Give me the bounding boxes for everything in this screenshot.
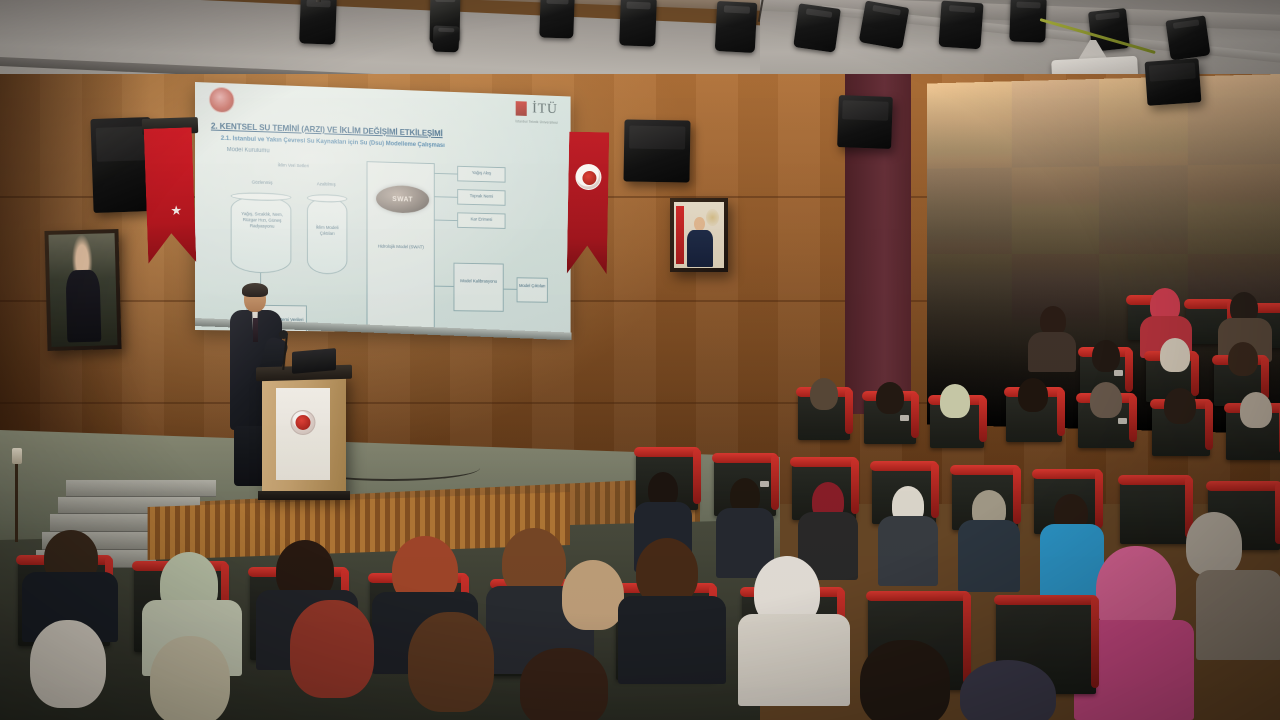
university-emblem-icon bbox=[575, 164, 601, 190]
audience-torso bbox=[618, 596, 726, 684]
audience-head bbox=[1018, 378, 1048, 412]
audience-head bbox=[408, 612, 494, 712]
podium-front-panel bbox=[276, 388, 330, 480]
crescent-icon bbox=[157, 180, 180, 203]
portrait-inner bbox=[49, 233, 118, 347]
diagram-cylinder-left-text: Yağış, Sıcaklık, Nem, Rüzgar Hızı, Güneş… bbox=[235, 211, 290, 231]
wall-speaker-icon bbox=[623, 119, 690, 182]
auditorium-seat bbox=[1120, 480, 1190, 544]
diagram-calibration-label: Model Kalibrasyonu bbox=[455, 278, 501, 285]
ataturk-portrait-image bbox=[49, 233, 118, 347]
audience-head bbox=[810, 378, 838, 410]
ataturk-portrait-frame bbox=[44, 229, 121, 351]
audience-head bbox=[520, 648, 608, 720]
audience-headscarf bbox=[1090, 382, 1122, 418]
portrait-inner bbox=[674, 202, 724, 268]
audience-headscarf bbox=[1160, 338, 1190, 372]
diagram-section-label: İklim Veri Setleri bbox=[254, 162, 332, 170]
wall-speaker-icon bbox=[1145, 58, 1202, 106]
diagram-cylinder-right-label: Azaltılmış bbox=[299, 181, 353, 189]
stage-light-icon bbox=[715, 1, 758, 53]
star-icon: ★ bbox=[170, 204, 182, 217]
cylinder-top-icon bbox=[231, 192, 291, 201]
diagram-calibration-box bbox=[453, 263, 503, 312]
audience-torso bbox=[1196, 570, 1280, 660]
cylinder-top-icon bbox=[307, 194, 347, 203]
audience-head bbox=[876, 382, 904, 414]
portrait-body-icon bbox=[687, 230, 713, 267]
wall-sconce-pole bbox=[15, 464, 18, 542]
stage-light-icon bbox=[793, 3, 841, 52]
auditorium-photo: İTÜ İstanbul Teknik Üniversitesi 2. KENT… bbox=[0, 0, 1280, 720]
stage-light-icon bbox=[299, 0, 337, 45]
diagram-output-label-2: Toprak Nemi bbox=[457, 193, 505, 200]
diagram-cylinder-left-label: Gözlenmiş bbox=[233, 179, 292, 187]
presentation-laptop-icon bbox=[292, 348, 336, 374]
stage-light-icon bbox=[859, 0, 910, 49]
audience-headscarf bbox=[1240, 392, 1272, 428]
diagram-connector bbox=[504, 289, 517, 290]
audience-torso bbox=[738, 614, 850, 706]
diagram-cylinder-right-text: İklim Modeli Çıktıları bbox=[309, 225, 346, 238]
portrait-seal-icon bbox=[706, 209, 719, 226]
audience-head bbox=[1092, 340, 1120, 372]
database-cylinder-icon bbox=[231, 195, 292, 274]
presenter-hair bbox=[242, 283, 268, 297]
diagram-results-label: Model Çıktıları bbox=[517, 283, 548, 289]
audience-torso bbox=[878, 516, 938, 586]
diagram-output-label-3: Kar Erimesi bbox=[457, 216, 505, 223]
diagram-connector bbox=[435, 220, 457, 221]
audience-head bbox=[860, 640, 950, 720]
audience-torso bbox=[1028, 332, 1076, 372]
stage-light-icon bbox=[539, 0, 575, 39]
president-portrait-frame bbox=[670, 198, 728, 272]
wall-sconce-icon bbox=[12, 448, 22, 464]
stair-step bbox=[66, 480, 216, 497]
audience-head bbox=[150, 636, 230, 720]
lectern-podium bbox=[262, 372, 346, 497]
audience-torso bbox=[958, 520, 1020, 592]
stage-light-icon bbox=[619, 0, 657, 47]
audience-head bbox=[290, 600, 374, 698]
portrait-head-icon bbox=[694, 217, 705, 232]
light-yoke-icon bbox=[316, 0, 321, 2]
audience-headscarf bbox=[562, 560, 624, 630]
stage-light-icon bbox=[433, 26, 460, 53]
podium-base bbox=[258, 491, 350, 500]
university-seal-icon bbox=[291, 410, 316, 435]
presenter-tie bbox=[253, 318, 258, 342]
diagram-results-box bbox=[517, 277, 548, 302]
stage-light-icon bbox=[938, 1, 983, 50]
diagram-connector bbox=[435, 286, 454, 287]
diagram-connector bbox=[435, 173, 457, 174]
diagram-connector bbox=[435, 196, 457, 197]
audience-torso bbox=[1040, 524, 1104, 598]
audience-head bbox=[1164, 388, 1196, 424]
stage-light-icon bbox=[1165, 15, 1210, 60]
wall-speaker-icon bbox=[837, 95, 893, 149]
audience-head bbox=[1228, 342, 1258, 376]
portrait-flag-icon bbox=[676, 206, 684, 264]
diagram-model-label: Hidrolojik Model (SWAT) bbox=[370, 244, 431, 251]
microphone-icon bbox=[279, 330, 288, 339]
president-portrait-image bbox=[674, 202, 724, 268]
audience-head bbox=[30, 620, 106, 708]
swat-label: SWAT bbox=[392, 196, 413, 203]
audience-headscarf bbox=[940, 384, 970, 418]
audience-headscarf bbox=[1186, 512, 1242, 576]
